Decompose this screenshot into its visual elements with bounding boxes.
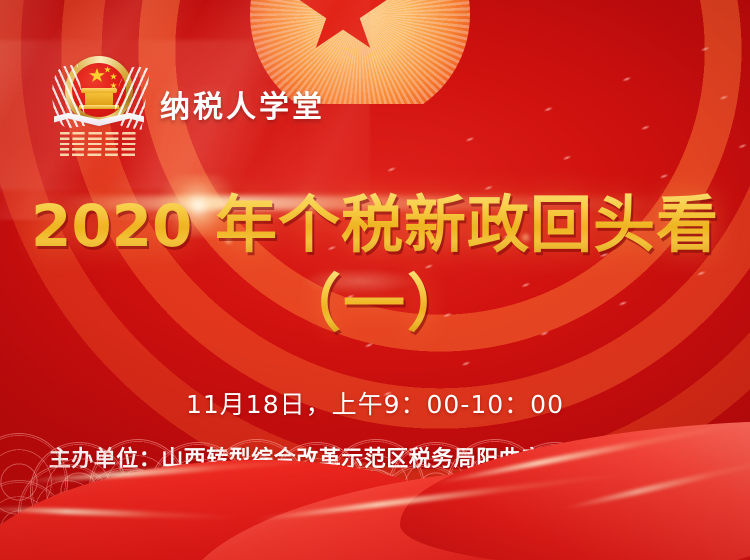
title-year: 2020	[31, 192, 192, 260]
school-name-label: 纳税人学堂	[160, 82, 325, 126]
emblem-star-small	[104, 66, 111, 73]
schedule-datetime: 11月18日，上午9：00-10：00	[0, 385, 750, 421]
emblem-tiananmen-gate	[85, 92, 113, 105]
poster-canvas: 纳税人学堂 2020 年个税新政回头看 （一） 11月18日，上午9：00-10…	[0, 0, 750, 560]
emblem-star-large	[89, 68, 105, 83]
seigaiha-wave-pattern	[0, 430, 750, 560]
brand-header: 纳税人学堂	[52, 52, 325, 156]
main-title-block: 2020 年个税新政回头看 （一）	[0, 186, 750, 339]
title-part-label: （一）	[0, 269, 750, 339]
emblem-caption-calligraphy	[60, 132, 138, 156]
main-title-line: 2020 年个税新政回头看	[0, 186, 750, 265]
china-taxation-emblem-icon	[52, 52, 146, 156]
title-main-text: 年个税新政回头看	[215, 188, 719, 261]
emblem-star-small	[110, 73, 117, 80]
